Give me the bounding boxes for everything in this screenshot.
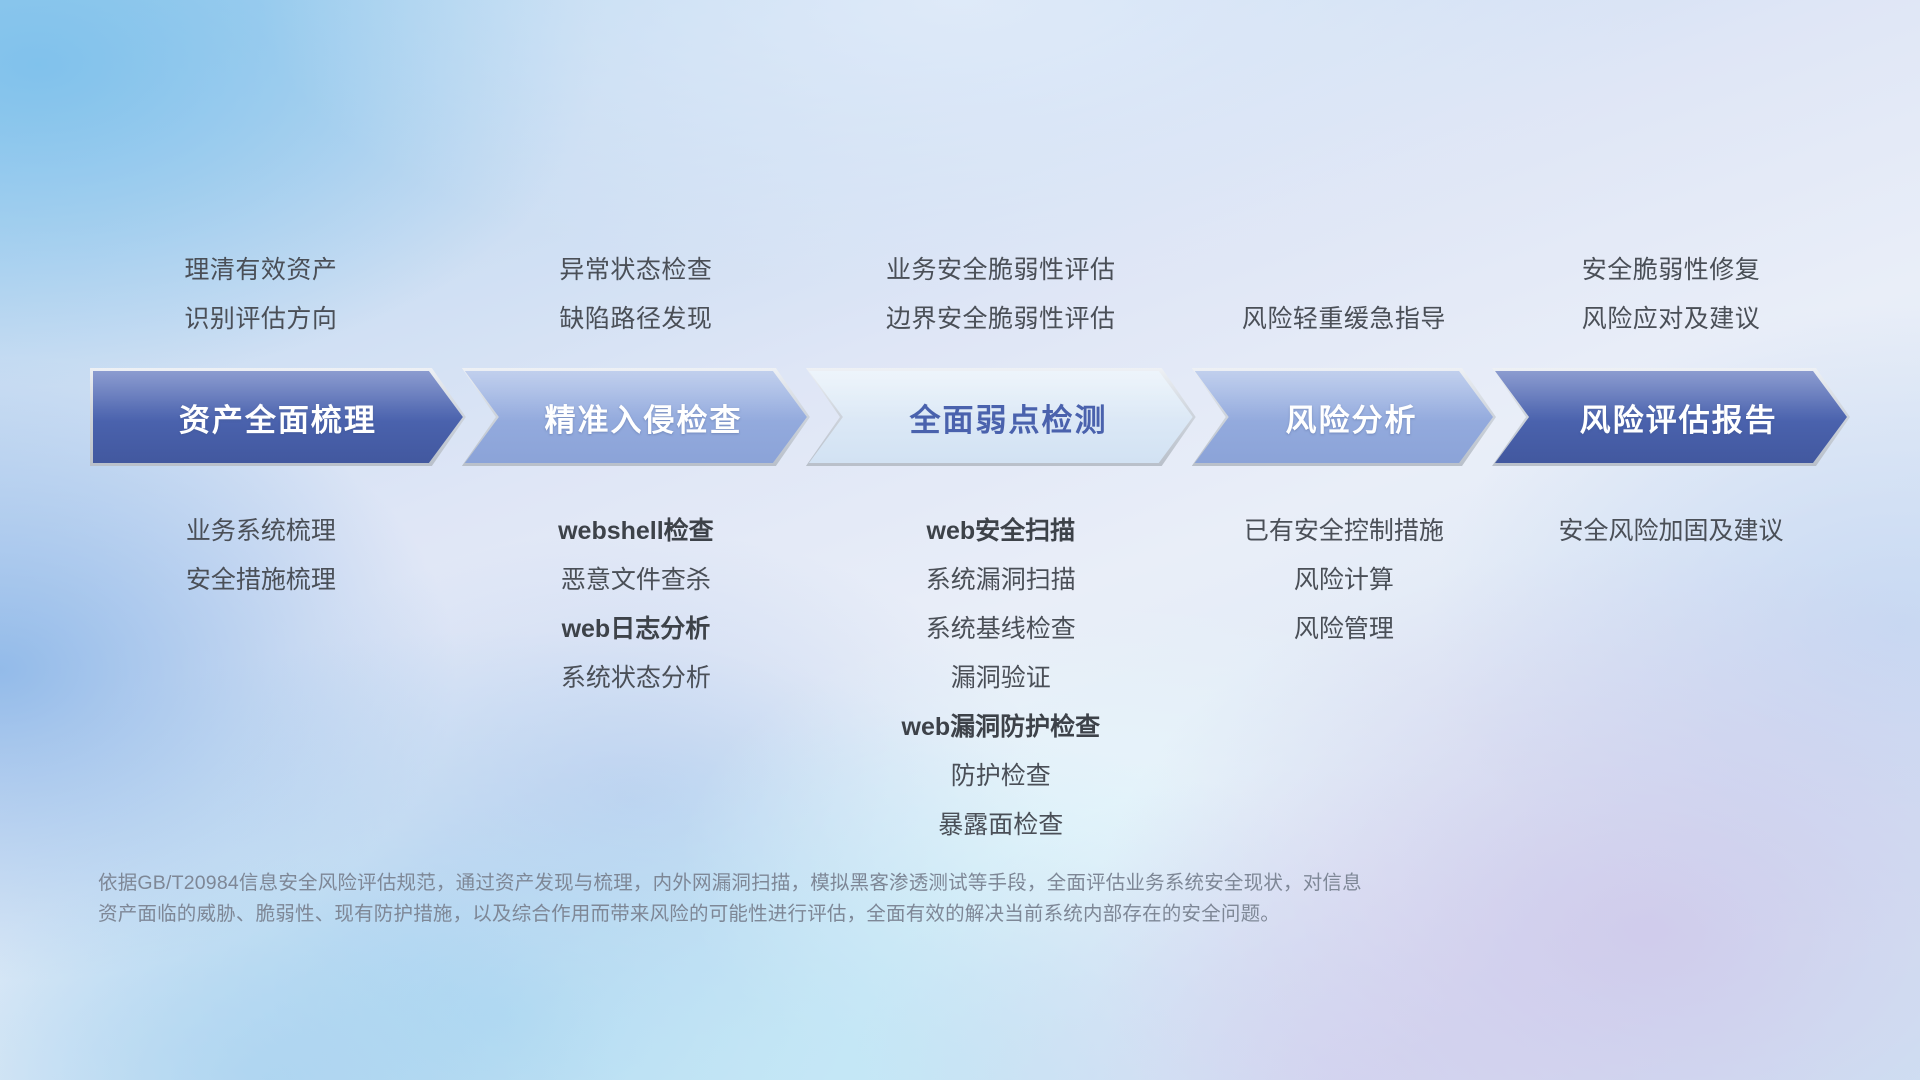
stage-title-assessment-report: 风险评估报告 <box>1580 395 1778 440</box>
stage-title-asset-inventory: 资产全面梳理 <box>179 395 377 440</box>
stage-chevron-assessment-report[interactable]: 风险评估报告 <box>1492 368 1850 466</box>
footer-line-1: 依据GB/T20984信息安全风险评估规范，通过资产发现与梳理，内外网漏洞扫描，… <box>98 868 1838 899</box>
bottom-list-item: web漏洞防护检查 <box>701 703 1301 752</box>
top-caption-item: 安全脆弱性修复 <box>1371 246 1920 295</box>
bottom-list-assessment-report: 安全风险加固及建议 <box>1371 507 1920 556</box>
stage-title-weakness-detection: 全面弱点检测 <box>909 395 1107 440</box>
bottom-list-item: 暴露面检查 <box>701 801 1301 850</box>
bottom-list-item: 防护检查 <box>701 752 1301 801</box>
bottom-list-item: 漏洞验证 <box>701 654 1301 703</box>
footer-line-2: 资产面临的威胁、脆弱性、现有防护措施，以及综合作用而带来风险的可能性进行评估，全… <box>98 899 1838 930</box>
top-caption-item: 业务安全脆弱性评估 <box>701 246 1301 295</box>
top-caption-assessment-report: 安全脆弱性修复风险应对及建议 <box>1371 246 1920 344</box>
bottom-list-item: 风险计算 <box>1044 556 1644 605</box>
stage-chevron-risk-analysis[interactable]: 风险分析 <box>1192 368 1496 466</box>
bottom-list-item: 安全风险加固及建议 <box>1371 507 1920 556</box>
footer-description: 依据GB/T20984信息安全风险评估规范，通过资产发现与梳理，内外网漏洞扫描，… <box>98 868 1838 930</box>
stage-chevron-asset-inventory[interactable]: 资产全面梳理 <box>90 368 466 466</box>
process-chevron-band: 资产全面梳理精准入侵检查全面弱点检测风险分析风险评估报告 <box>90 368 1850 466</box>
stage-title-intrusion-check: 精准入侵检查 <box>545 395 743 440</box>
stage-chevron-weakness-detection[interactable]: 全面弱点检测 <box>806 368 1196 466</box>
stage-title-risk-analysis: 风险分析 <box>1286 395 1418 440</box>
stage-chevron-intrusion-check[interactable]: 精准入侵检查 <box>462 368 810 466</box>
top-caption-item: 风险应对及建议 <box>1371 295 1920 344</box>
bottom-list-item: 风险管理 <box>1044 605 1644 654</box>
